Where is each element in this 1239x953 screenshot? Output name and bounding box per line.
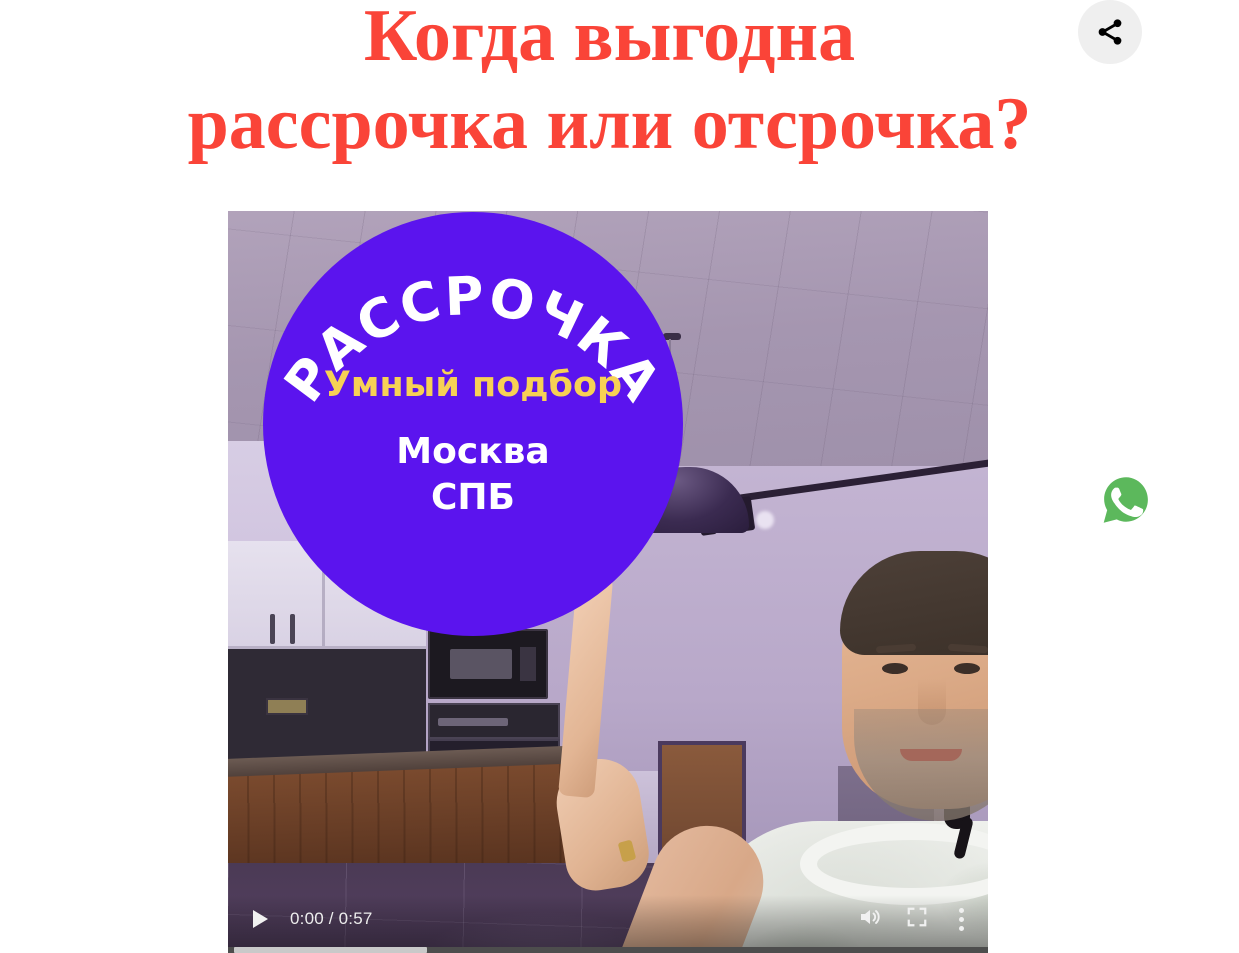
overlay-city-spb: СПБ bbox=[263, 474, 683, 521]
whatsapp-icon bbox=[1098, 472, 1154, 528]
landing-page: Когда выгодна рассрочка или отсрочка? bbox=[0, 0, 1239, 953]
more-options-icon bbox=[959, 906, 964, 933]
whatsapp-button[interactable] bbox=[1098, 472, 1154, 528]
overlay-city-moscow: Москва bbox=[263, 428, 683, 475]
eye bbox=[882, 663, 908, 674]
play-button[interactable] bbox=[242, 902, 276, 936]
video-progress-buffered bbox=[234, 947, 427, 953]
presenter-hair bbox=[840, 551, 988, 655]
fullscreen-button[interactable] bbox=[898, 902, 936, 936]
share-button[interactable] bbox=[1078, 0, 1142, 64]
overlay-headline: Умный подбор bbox=[263, 364, 683, 406]
video-progress-bar[interactable] bbox=[228, 947, 988, 953]
volume-button[interactable] bbox=[850, 902, 888, 936]
share-icon bbox=[1095, 17, 1125, 47]
more-options-button[interactable] bbox=[948, 902, 974, 936]
promo-circle-overlay: РАССРОЧКА Умный подбор Москва СПБ bbox=[263, 212, 683, 636]
volume-icon bbox=[857, 905, 881, 934]
fullscreen-icon bbox=[906, 906, 928, 933]
video-controls: 0:00 / 0:57 bbox=[228, 895, 988, 953]
play-icon bbox=[253, 910, 268, 928]
time-display: 0:00 / 0:57 bbox=[290, 909, 373, 929]
page-title: Когда выгодна рассрочка или отсрочка? bbox=[0, 0, 1219, 168]
video-frame: РАССРОЧКА Умный подбор Москва СПБ bbox=[228, 211, 988, 953]
video-player[interactable]: РАССРОЧКА Умный подбор Москва СПБ 0:00 /… bbox=[228, 211, 988, 953]
mouth bbox=[900, 749, 962, 761]
eye bbox=[954, 663, 980, 674]
arc-text-rassrochka: РАССРОЧКА bbox=[263, 212, 683, 636]
